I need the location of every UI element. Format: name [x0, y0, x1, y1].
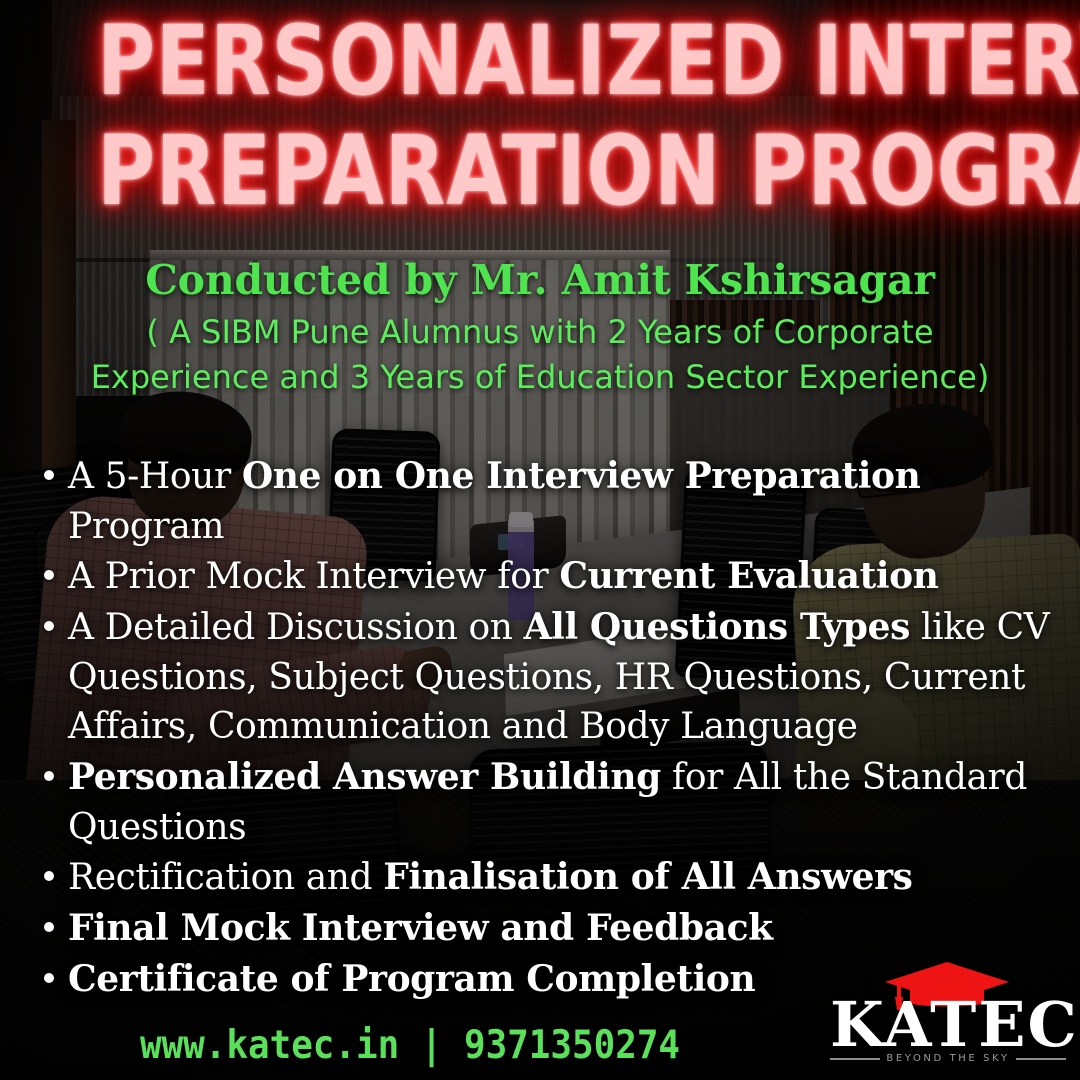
conducted-by-heading: Conducted by Mr. Amit Kshirsagar	[0, 256, 1080, 304]
tagline-rule-left	[830, 1058, 880, 1060]
bullet-discussion: A Detailed Discussion on All Questions T…	[42, 603, 1058, 752]
title-line-1: PERSONALIZED INTERVIEW	[97, 14, 983, 108]
tagline-rule-right	[1016, 1058, 1066, 1060]
logo-wordmark: KATEC	[830, 994, 1066, 1056]
bullet-final-mock: Final Mock Interview and Feedback	[42, 904, 1058, 954]
katec-logo: KATEC BEYOND THE SKY	[830, 960, 1066, 1072]
bullet-duration: A 5-Hour One on One Interview Preparatio…	[42, 452, 1058, 551]
poster-title: PERSONALIZED INTERVIEW PREPARATION PROGR…	[0, 14, 1080, 218]
logo-tagline: BEYOND THE SKY	[886, 1053, 1009, 1064]
presenter-credentials: ( A SIBM Pune Alumnus with 2 Years of Co…	[60, 310, 1020, 401]
contact-line[interactable]: www.katec.in | 9371350274	[33, 1023, 787, 1068]
poster-canvas: PERSONALIZED INTERVIEW PREPARATION PROGR…	[0, 0, 1080, 1080]
bullet-answer-build: Personalized Answer Building for All the…	[42, 753, 1058, 852]
logo-tagline-row: BEYOND THE SKY	[830, 1053, 1066, 1064]
bullet-rectification: Rectification and Finalisation of All An…	[42, 853, 1058, 903]
bullet-mock-prior: A Prior Mock Interview for Current Evalu…	[42, 552, 1058, 602]
program-feature-list: A 5-Hour One on One Interview Preparatio…	[42, 452, 1058, 1005]
title-line-2: PREPARATION PROGRAM	[97, 124, 983, 218]
